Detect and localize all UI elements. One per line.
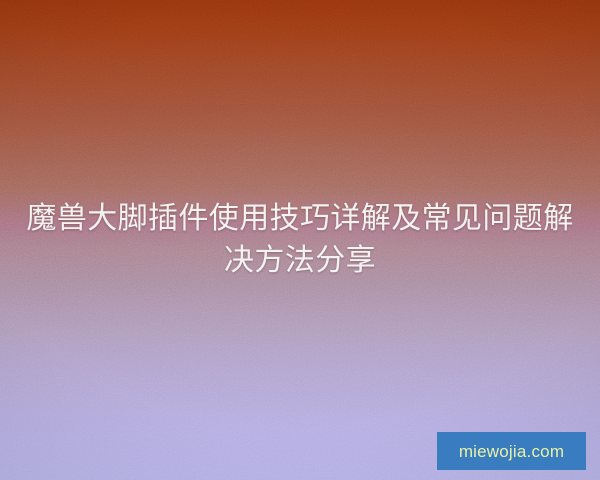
page-title: 魔兽大脚插件使用技巧详解及常见问题解 决方法分享 [0, 198, 600, 282]
watermark-label: miewojia.com [459, 443, 564, 460]
title-line-2: 决方法分享 [18, 240, 582, 282]
title-line-1: 魔兽大脚插件使用技巧详解及常见问题解 [18, 198, 582, 240]
cover-image: 魔兽大脚插件使用技巧详解及常见问题解 决方法分享 miewojia.com [0, 0, 600, 480]
watermark-badge[interactable]: miewojia.com [437, 432, 586, 470]
